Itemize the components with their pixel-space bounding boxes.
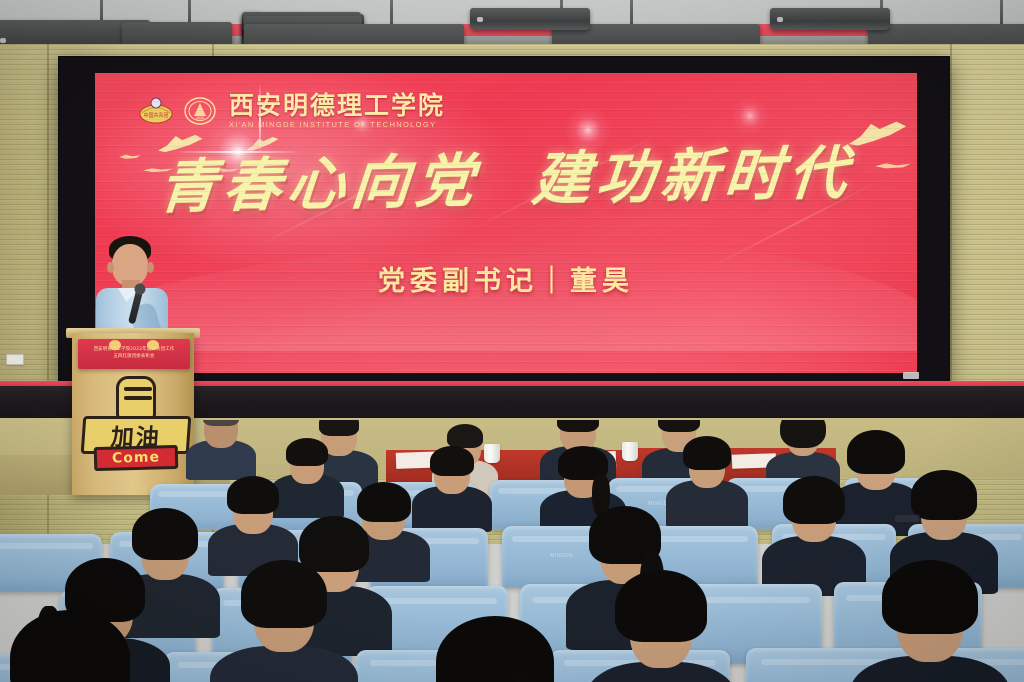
- audience-person: [850, 560, 1010, 682]
- person-hair: [430, 446, 474, 476]
- person-hair: [132, 508, 198, 560]
- youth-league-emblem-icon: [109, 340, 121, 350]
- lens-flare-icon: [731, 97, 769, 135]
- conference-hall-photo: 中国共青团 明德 西安明德理工学院 XI'AN MINGDE INSTITUTE…: [0, 0, 1024, 682]
- person-hair: [882, 560, 978, 634]
- university-name-cn: 西安明德理工学院: [229, 93, 445, 118]
- screen-subtitle: 党委副书记｜董昊: [95, 259, 917, 298]
- person-hair: [683, 436, 731, 470]
- audience-person: [210, 560, 358, 682]
- ceiling-light-fixture: [470, 8, 590, 30]
- led-screen: 中国共青团 明德 西安明德理工学院 XI'AN MINGDE INSTITUTE…: [95, 73, 917, 373]
- audience-area: MINGDE: [0, 420, 1024, 682]
- audience-person: [186, 420, 256, 474]
- person-hair: [241, 560, 327, 628]
- person-hair: [436, 616, 554, 682]
- person-hair: [286, 438, 328, 466]
- person-hair: [780, 420, 826, 448]
- svg-text:中国共青团: 中国共青团: [143, 112, 168, 119]
- person-hair: [10, 610, 130, 682]
- person-hair: [658, 420, 700, 432]
- university-crest-icon: [147, 340, 159, 350]
- university-name-block: 西安明德理工学院 XI'AN MINGDE INSTITUTE OF TECHN…: [229, 93, 445, 129]
- university-name-en: XI'AN MINGDE INSTITUTE OF TECHNOLOGY: [229, 121, 445, 129]
- podium-banner-emblems: [78, 340, 190, 350]
- screen-slogan: 青春心向党 建功新时代: [95, 142, 917, 217]
- person-hair: [911, 470, 977, 520]
- person-hair: [615, 570, 707, 642]
- person-hair: [319, 420, 359, 436]
- speaker-ear: [147, 262, 154, 273]
- svg-text:明德: 明德: [196, 115, 204, 121]
- person-hair: [557, 420, 599, 432]
- audience-person: [0, 610, 170, 682]
- eyeglasses-icon: [894, 514, 920, 523]
- screen-logo-lockup: 中国共青团 明德 西安明德理工学院 XI'AN MINGDE INSTITUTE…: [139, 93, 445, 129]
- person-hair: [783, 476, 845, 524]
- audience-person: [586, 570, 736, 682]
- speaker-ear: [107, 262, 114, 273]
- wall-outlet: [6, 354, 24, 365]
- person-hair: [847, 430, 905, 474]
- university-crest-icon: 明德: [183, 96, 217, 126]
- podium-banner: 西安明德理工学院2022年度共青团工作 五四红旗团委表彰会: [78, 339, 190, 369]
- ceiling-light-fixture: [770, 8, 890, 30]
- podium-banner-line2: 五四红旗团委表彰会: [113, 354, 154, 361]
- person-hair: [203, 420, 239, 426]
- audience-person: [400, 616, 590, 682]
- person-hair: [227, 476, 279, 514]
- youth-league-emblem-icon: 中国共青团: [139, 96, 173, 126]
